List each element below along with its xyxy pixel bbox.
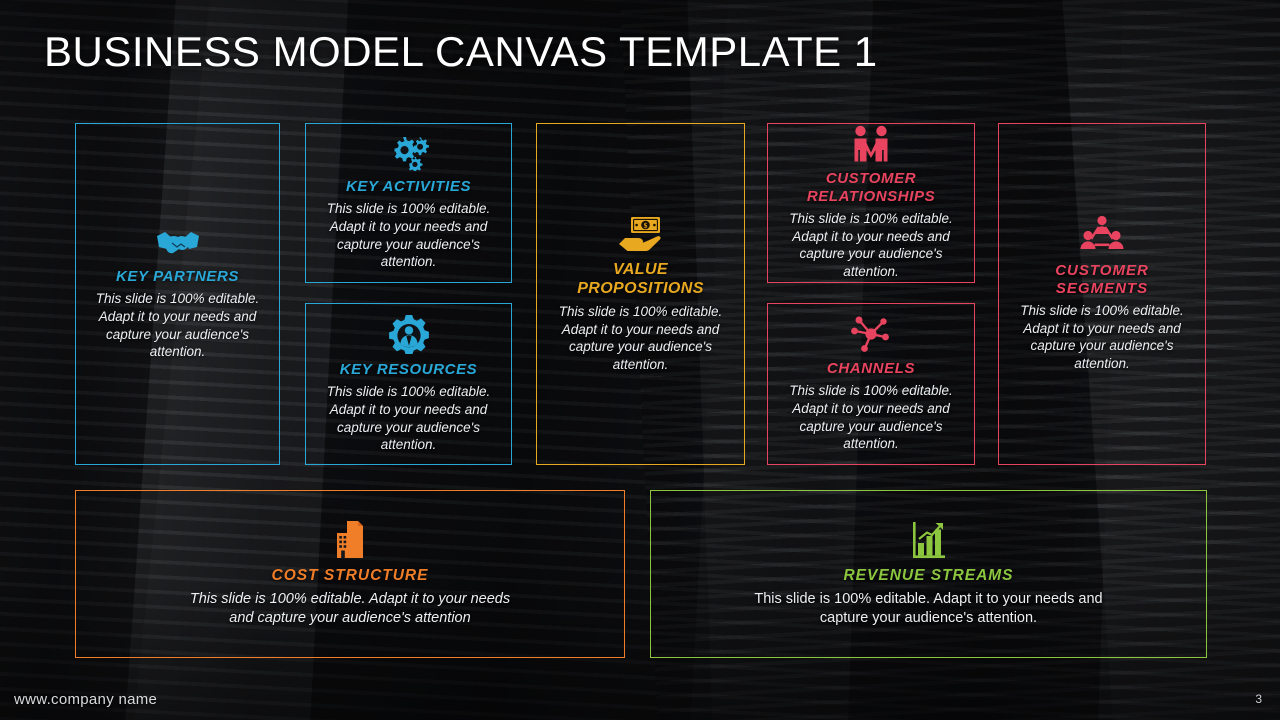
panel-body: This slide is 100% editable. Adapt it to…: [754, 590, 1104, 628]
panel-title: CHANNELS: [827, 360, 915, 377]
gears-icon: [388, 135, 430, 171]
slide: BUSINESS MODEL CANVAS TEMPLATE 1 KEY PAR…: [0, 0, 1280, 720]
footer-website-url: www.company name: [14, 691, 157, 708]
handshake-icon: [155, 227, 201, 261]
panel-body: This slide is 100% editable. Adapt it to…: [780, 210, 962, 281]
panel-title: KEY RESOURCES: [340, 361, 478, 378]
panel-title: CUSTOMER SEGMENTS: [1011, 262, 1193, 297]
panel-title: COST STRUCTURE: [272, 567, 429, 585]
panel-body: This slide is 100% editable. Adapt it to…: [88, 290, 267, 361]
panel-channels[interactable]: CHANNELS This slide is 100% editable. Ad…: [767, 303, 975, 465]
panel-title: KEY PARTNERS: [116, 268, 239, 285]
panel-body: This slide is 100% editable. Adapt it to…: [780, 382, 962, 453]
panel-revenue-streams[interactable]: REVENUE STREAMS This slide is 100% edita…: [650, 490, 1207, 658]
panel-body: This slide is 100% editable. Adapt it to…: [318, 200, 499, 271]
panel-title: CUSTOMER RELATIONSHIPS: [780, 170, 962, 205]
panel-body: This slide is 100% editable. Adapt it to…: [318, 383, 499, 454]
panel-body: This slide is 100% editable. Adapt it to…: [185, 590, 515, 628]
gear-person-icon: [388, 314, 430, 354]
panel-cost-structure[interactable]: COST STRUCTURE This slide is 100% editab…: [75, 490, 625, 658]
panel-title: REVENUE STREAMS: [843, 567, 1013, 585]
panel-title: KEY ACTIVITIES: [346, 178, 471, 195]
panel-customer-segments[interactable]: CUSTOMER SEGMENTS This slide is 100% edi…: [998, 123, 1206, 465]
panel-body: This slide is 100% editable. Adapt it to…: [1011, 302, 1193, 373]
footer-page-number: 3: [1255, 692, 1262, 706]
panel-customer-relationships[interactable]: CUSTOMER RELATIONSHIPS This slide is 100…: [767, 123, 975, 283]
panel-value-propositions[interactable]: $ VALUE PROPOSITIONS This slide is 100% …: [536, 123, 745, 465]
building-icon: [333, 520, 367, 560]
network-hub-icon: [849, 315, 893, 353]
people-group-icon: [1080, 215, 1124, 255]
page-title: BUSINESS MODEL CANVAS TEMPLATE 1: [44, 28, 878, 76]
hand-money-icon: $: [616, 214, 666, 254]
panel-key-activities[interactable]: KEY ACTIVITIES This slide is 100% editab…: [305, 123, 512, 283]
panel-key-partners[interactable]: KEY PARTNERS This slide is 100% editable…: [75, 123, 280, 465]
panel-title: VALUE PROPOSITIONS: [549, 261, 732, 298]
two-people-icon: [851, 125, 891, 163]
svg-text:$: $: [643, 221, 647, 230]
panel-body: This slide is 100% editable. Adapt it to…: [549, 303, 732, 374]
panel-key-resources[interactable]: KEY RESOURCES This slide is 100% editabl…: [305, 303, 512, 465]
bar-chart-growth-icon: [911, 520, 947, 560]
